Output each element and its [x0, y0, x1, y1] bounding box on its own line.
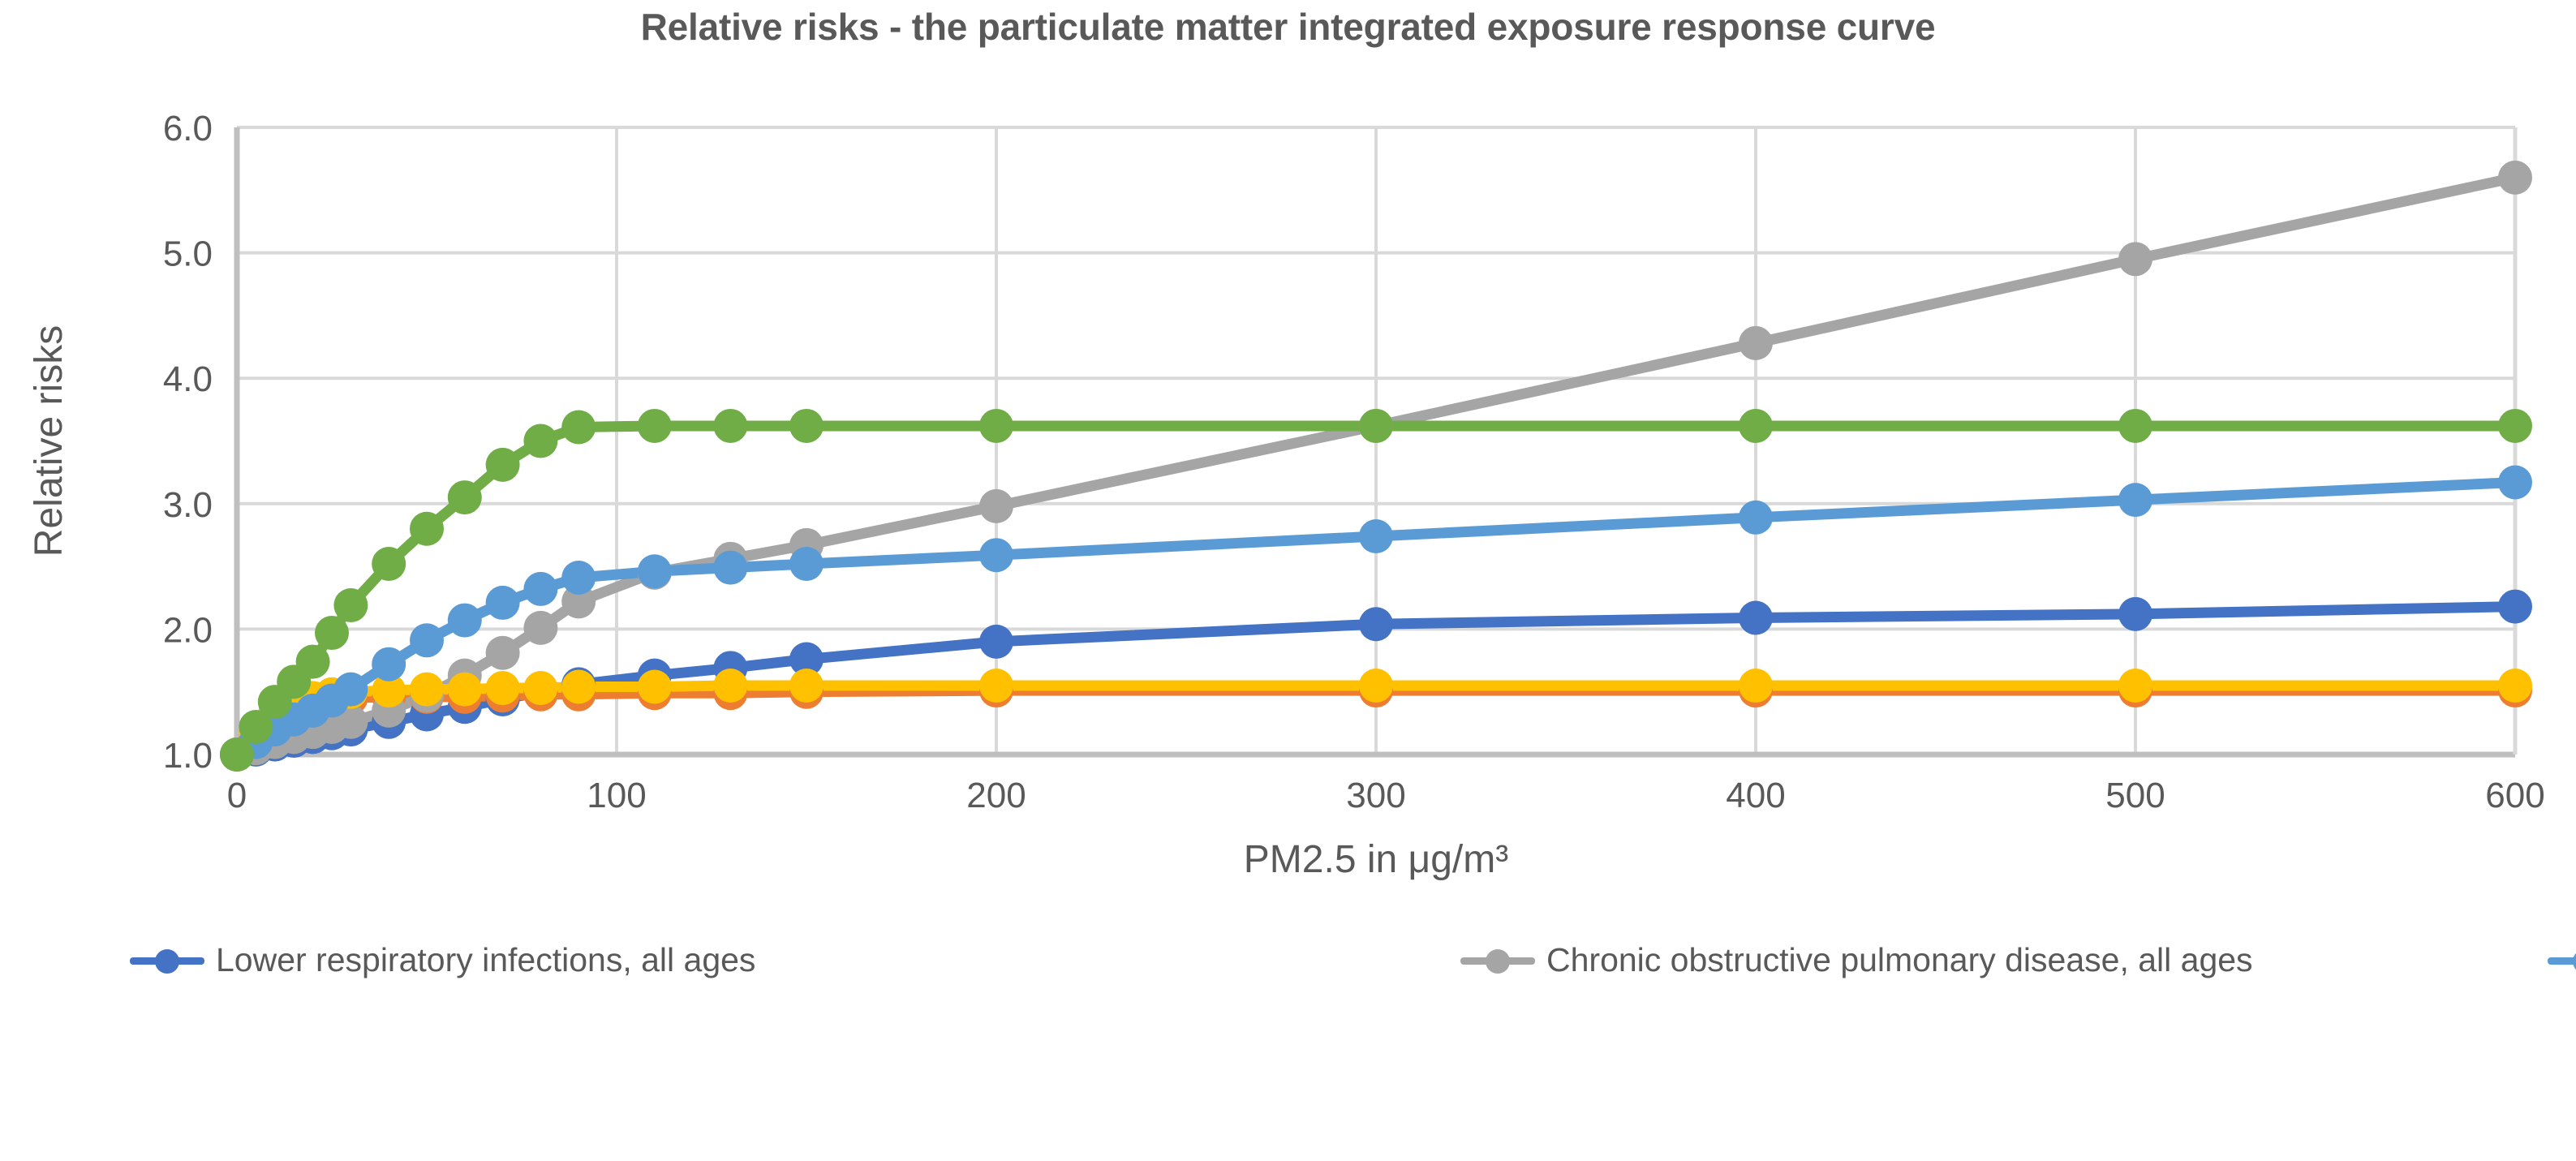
- x-tick-label: 500: [2105, 776, 2165, 815]
- series-marker: [2498, 466, 2532, 500]
- series-marker: [2118, 409, 2152, 443]
- series-marker: [2118, 597, 2152, 631]
- series-marker: [1739, 326, 1773, 360]
- series-marker: [979, 669, 1013, 703]
- series-marker: [333, 673, 368, 707]
- series-marker: [1739, 501, 1773, 535]
- y-tick-label: 5.0: [163, 234, 213, 274]
- x-tick-label: 100: [587, 776, 646, 815]
- series-marker: [713, 669, 747, 703]
- series-marker: [486, 671, 520, 705]
- chart-container: Relative risks - the particulate matter …: [0, 0, 2576, 1161]
- y-tick-label: 1.0: [163, 736, 213, 776]
- series-marker: [561, 561, 596, 595]
- series-marker: [523, 424, 557, 458]
- series-marker: [372, 547, 406, 581]
- series-marker: [1739, 409, 1773, 443]
- series-marker: [2498, 161, 2532, 195]
- series-marker: [713, 551, 747, 585]
- y-tick-label: 3.0: [163, 485, 213, 525]
- y-tick-label: 2.0: [163, 610, 213, 650]
- series-marker: [486, 586, 520, 620]
- series-marker: [296, 645, 330, 679]
- series-marker: [410, 673, 444, 707]
- legend-item[interactable]: Ischaemic heart disease, age 25-29 years: [2548, 941, 2576, 979]
- series-marker: [979, 625, 1013, 659]
- series-marker: [372, 647, 406, 682]
- x-tick-label: 200: [966, 776, 1026, 815]
- y-tick-label: 6.0: [163, 109, 213, 148]
- chart-plot: 1.02.03.04.05.06.0 0100200300400500600 P…: [0, 0, 2576, 1161]
- series-marker: [2118, 669, 2152, 703]
- series-marker: [789, 409, 824, 443]
- legend-item[interactable]: Chronic obstructive pulmonary disease, a…: [1460, 941, 2548, 979]
- x-axis-title: PM2.5 in μg/m³: [1244, 838, 1508, 881]
- x-tick-label: 400: [1726, 776, 1785, 815]
- legend-item[interactable]: Lower respiratory infections, all ages: [130, 941, 1460, 979]
- series-marker: [2118, 483, 2152, 517]
- series-marker: [333, 588, 368, 622]
- series-marker: [638, 554, 672, 588]
- legend-item-label: Chronic obstructive pulmonary disease, a…: [1546, 944, 2253, 977]
- series-marker: [410, 512, 444, 546]
- series-marker: [1359, 409, 1393, 443]
- series-marker: [789, 669, 824, 703]
- series-marker: [979, 489, 1013, 523]
- series-marker: [638, 670, 672, 704]
- series-marker: [523, 572, 557, 606]
- series-marker: [220, 737, 254, 772]
- series-marker: [561, 410, 596, 444]
- series-marker: [315, 616, 349, 650]
- chart-legend: Lower respiratory infections, all agesCh…: [130, 941, 2531, 979]
- series-marker: [979, 409, 1013, 443]
- y-axis-title: Relative risks: [28, 325, 71, 557]
- series-marker: [2498, 409, 2532, 443]
- x-tick-label: 600: [2485, 776, 2544, 815]
- series-marker: [448, 480, 482, 514]
- series-marker: [2498, 669, 2532, 703]
- x-tick-labels: 0100200300400500600: [227, 776, 2545, 815]
- series-marker: [1359, 519, 1393, 553]
- axis-titles: PM2.5 in μg/m³Relative risks: [28, 325, 1508, 881]
- series-marker: [523, 611, 557, 645]
- series-marker: [561, 670, 596, 704]
- y-tick-label: 4.0: [163, 359, 213, 399]
- x-tick-label: 300: [1346, 776, 1405, 815]
- series-marker: [979, 538, 1013, 572]
- series-marker: [638, 409, 672, 443]
- series-marker: [486, 636, 520, 670]
- series-marker: [523, 671, 557, 705]
- series-marker: [1359, 607, 1393, 641]
- series-marker: [2498, 590, 2532, 624]
- series-marker: [2118, 242, 2152, 276]
- x-tick-label: 0: [227, 776, 247, 815]
- series-marker: [1359, 669, 1393, 703]
- series-marker: [1739, 600, 1773, 634]
- legend-swatch-icon: [1460, 948, 1535, 973]
- series-marker: [713, 409, 747, 443]
- series-marker: [789, 547, 824, 581]
- legend-item-label: Lower respiratory infections, all ages: [216, 944, 755, 977]
- series-marker: [1739, 669, 1773, 703]
- legend-swatch-icon: [130, 948, 204, 973]
- legend-swatch-icon: [2548, 948, 2576, 973]
- series-marker: [448, 673, 482, 707]
- series-marker: [410, 623, 444, 657]
- series-marker: [448, 604, 482, 638]
- series-marker: [486, 448, 520, 482]
- y-tick-labels: 1.02.03.04.05.06.0: [163, 109, 213, 776]
